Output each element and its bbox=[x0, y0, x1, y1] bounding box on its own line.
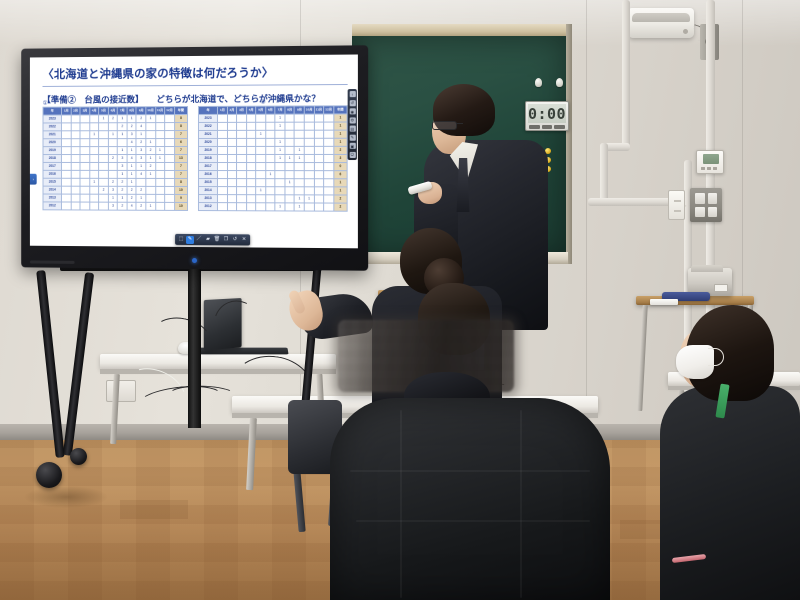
typhoon-table-right[interactable]: 年1月2月3月4月5月6月7月8月9月10月11月12月年間 202311202… bbox=[198, 105, 348, 211]
table-cell-year: 2016 bbox=[43, 170, 62, 178]
table-cell-month bbox=[304, 146, 314, 154]
thermostat[interactable] bbox=[696, 150, 724, 174]
digital-timer[interactable]: 0:00 bbox=[525, 101, 569, 131]
table-cell-month: 1 bbox=[275, 138, 285, 146]
table-cell-month bbox=[155, 123, 164, 131]
table-cell-month bbox=[155, 162, 164, 170]
table-cell-month bbox=[285, 138, 295, 146]
table-cell-month bbox=[256, 114, 266, 122]
table-cell-month bbox=[62, 131, 71, 139]
table-cell-month bbox=[99, 202, 108, 210]
select-icon[interactable]: ⬚ bbox=[177, 235, 185, 243]
glasses-icon bbox=[432, 121, 457, 130]
table-row: 2019113217 bbox=[43, 147, 188, 155]
table-cell-month bbox=[71, 155, 80, 163]
table-row: 20181113 bbox=[198, 154, 347, 162]
table-cell-total: 2 bbox=[334, 203, 348, 211]
table-cell-year: 2012 bbox=[43, 202, 62, 210]
table-cell-month: 2 bbox=[146, 162, 155, 170]
table-cell-year: 2021 bbox=[43, 131, 62, 139]
table-cell-month: 1 bbox=[275, 114, 285, 122]
table-column-header: 8月 bbox=[127, 107, 136, 115]
table-cell-month bbox=[266, 114, 276, 122]
table-body: 2023121121820222248202111131720204216201… bbox=[43, 115, 188, 211]
table-cell-month bbox=[155, 115, 164, 123]
table-cell-month bbox=[62, 202, 71, 210]
table-cell-month bbox=[314, 154, 324, 162]
table-cell-month bbox=[227, 163, 237, 171]
table-cell-month bbox=[227, 195, 237, 203]
light-switch-button[interactable] bbox=[708, 193, 718, 204]
table-cell-month bbox=[165, 162, 175, 170]
table-cell-month bbox=[227, 171, 237, 179]
table-cell-month bbox=[71, 194, 80, 202]
table-row: 201611417 bbox=[43, 170, 188, 178]
thermostat-button[interactable] bbox=[701, 167, 705, 170]
table-cell-month bbox=[218, 122, 228, 130]
wall-outlet[interactable] bbox=[668, 190, 685, 220]
table-cell-month: 3 bbox=[118, 162, 127, 170]
table-cell-month: 2 bbox=[118, 202, 127, 210]
table-cell-month bbox=[99, 139, 108, 147]
table-column-header: 年間 bbox=[334, 106, 348, 114]
table-cell-month bbox=[165, 202, 175, 210]
camera-icon[interactable]: ◉ bbox=[349, 108, 355, 114]
table-cell-month bbox=[256, 122, 266, 130]
table-cell-month: 1 bbox=[118, 147, 127, 155]
table-cell-month bbox=[227, 138, 237, 146]
table-cell-month bbox=[314, 203, 324, 211]
table-cell-month: 1 bbox=[118, 131, 127, 139]
thermostat-button[interactable] bbox=[707, 167, 711, 170]
table-cell-total: 8 bbox=[174, 178, 187, 186]
table-cell-month bbox=[62, 115, 71, 123]
table-cell-month bbox=[295, 122, 305, 130]
table-cell-total: 8 bbox=[174, 123, 187, 131]
expand-panel-tab[interactable]: › bbox=[30, 174, 37, 185]
highlighter-icon[interactable]: ／ bbox=[195, 236, 203, 244]
save-icon[interactable]: ▣ bbox=[349, 143, 355, 149]
table-cell-month bbox=[227, 146, 237, 154]
table-cell-month: 3 bbox=[127, 131, 136, 139]
timer-stop-button[interactable] bbox=[542, 125, 553, 129]
table-cell-month: 4 bbox=[136, 123, 145, 131]
pen-icon[interactable]: ✎ bbox=[349, 134, 355, 140]
table-cell-month bbox=[99, 178, 108, 186]
jacket-seam bbox=[356, 520, 590, 522]
table-cell-month bbox=[324, 114, 334, 122]
table-cell-month: 4 bbox=[127, 202, 136, 210]
table-cell-month: 1 bbox=[155, 147, 164, 155]
table-cell-month: 2 bbox=[146, 147, 155, 155]
timer-start-button[interactable] bbox=[529, 125, 540, 129]
table-column-header: 3月 bbox=[237, 106, 247, 114]
table-cell-month: 2 bbox=[136, 115, 145, 123]
table-cell-month bbox=[304, 138, 314, 146]
table-cell-month bbox=[155, 194, 164, 202]
table-cell-month bbox=[246, 146, 256, 154]
table-cell-month bbox=[246, 187, 256, 195]
table-column-header: 4月 bbox=[90, 107, 99, 115]
table-cell-year: 2012 bbox=[198, 203, 217, 211]
thermostat-buttons[interactable] bbox=[701, 167, 717, 170]
table-cell-month bbox=[62, 178, 71, 186]
table-cell-month bbox=[266, 154, 276, 162]
table-cell-month: 1 bbox=[127, 178, 136, 186]
table-cell-year: 2019 bbox=[198, 146, 217, 154]
stand-caster bbox=[36, 462, 62, 488]
table-cell-month bbox=[237, 179, 247, 187]
table-cell-month bbox=[256, 163, 266, 171]
table-cell-month bbox=[237, 195, 247, 203]
table-cell-month bbox=[285, 146, 295, 154]
table-cell-month bbox=[227, 179, 237, 187]
table-cell-month bbox=[71, 115, 80, 123]
table-cell-month bbox=[324, 187, 334, 195]
grid-icon[interactable]: ▤ bbox=[349, 126, 355, 132]
light-switch-button[interactable] bbox=[695, 193, 705, 204]
table-cell-total: 1 bbox=[334, 122, 348, 130]
timer-reset-button[interactable] bbox=[554, 125, 565, 129]
table-cell-month bbox=[155, 186, 164, 194]
table-cell-month: 2 bbox=[127, 123, 136, 131]
table-cell-month bbox=[304, 122, 314, 130]
table-cell-year: 2023 bbox=[198, 114, 217, 122]
table-cell-month bbox=[285, 203, 295, 211]
table-cell-month: 1 bbox=[90, 131, 99, 139]
table-cell-month bbox=[90, 147, 99, 155]
table-column-header: 年 bbox=[198, 106, 217, 114]
table-cell-month: 1 bbox=[90, 178, 99, 186]
table-left-index: ① bbox=[43, 100, 48, 107]
table-column-header: 1月 bbox=[62, 107, 71, 115]
table-cell-month: 2 bbox=[118, 186, 127, 194]
table-cell-month bbox=[165, 131, 175, 139]
table-cell-month bbox=[80, 202, 89, 210]
copy-icon[interactable]: ❐ bbox=[222, 236, 230, 244]
table-cell-month bbox=[324, 179, 334, 187]
table-cell-month: 1 bbox=[256, 187, 266, 195]
table-right-index: ② bbox=[260, 99, 265, 106]
table-cell-month bbox=[62, 123, 71, 131]
table-cell-month bbox=[90, 170, 99, 178]
table-cell-month bbox=[304, 154, 314, 162]
slide-subtitle: 【準備② 台風の接近数】 どちらが北海道で、どちらが沖縄県かな？ bbox=[43, 92, 348, 106]
table-cell-month: 1 bbox=[285, 179, 295, 187]
table-header-row: 年1月2月3月4月5月6月7月8月9月10月11月12月年間 bbox=[43, 107, 188, 116]
table-column-header: 3月 bbox=[80, 107, 89, 115]
table-cell-month bbox=[80, 194, 89, 202]
table-cell-year: 2022 bbox=[198, 122, 217, 130]
table-row: 201823431113 bbox=[43, 155, 188, 163]
table-cell-month bbox=[99, 162, 108, 170]
light-switch-button[interactable] bbox=[695, 207, 705, 218]
table-cell-month bbox=[71, 139, 80, 147]
table-row: 202011 bbox=[198, 138, 347, 146]
table-cell-year: 2015 bbox=[43, 178, 62, 186]
close-icon[interactable]: ✕ bbox=[240, 236, 248, 244]
table-cell-total: 9 bbox=[174, 194, 187, 202]
table-cell-total: 7 bbox=[174, 147, 187, 155]
table-cell-month bbox=[237, 138, 247, 146]
table-cell-month bbox=[80, 162, 89, 170]
pen-icon[interactable]: ✎ bbox=[186, 235, 194, 243]
table-cell-total: 13 bbox=[174, 155, 187, 163]
table-cell-month bbox=[324, 138, 334, 146]
table-cell-total: 10 bbox=[174, 186, 187, 194]
undo-icon[interactable]: ↺ bbox=[349, 100, 355, 106]
table-cell-month bbox=[324, 122, 334, 130]
table-cell-total: 7 bbox=[174, 170, 187, 178]
table-cell-month bbox=[314, 195, 324, 203]
table-cell-month bbox=[218, 146, 228, 154]
table-cell-month: 1 bbox=[136, 194, 145, 202]
table-cell-month bbox=[80, 170, 89, 178]
table-cell-month bbox=[266, 163, 276, 171]
wall-display[interactable]: 〈北海道と沖縄県の家の特徴は何だろうか〉 【準備② 台風の接近数】 どちらが北海… bbox=[21, 45, 368, 270]
table-cell-month: 2 bbox=[108, 178, 117, 186]
table-cell-month bbox=[99, 147, 108, 155]
pointer-icon[interactable]: ↑ bbox=[349, 91, 355, 97]
table-cell-month: 1 bbox=[285, 154, 295, 162]
table-cell-month: 3 bbox=[118, 155, 127, 163]
table-cell-month bbox=[266, 203, 276, 211]
table-cell-month bbox=[62, 162, 71, 170]
display-screen[interactable]: 〈北海道と沖縄県の家の特徴は何だろうか〉 【準備② 台風の接近数】 どちらが北海… bbox=[30, 54, 358, 248]
table-cell-month bbox=[275, 171, 285, 179]
table-cell-month bbox=[285, 187, 295, 195]
table-cell-month: 1 bbox=[127, 170, 136, 178]
table-cell-total: 2 bbox=[334, 146, 348, 154]
table-cell-month bbox=[314, 187, 324, 195]
table-cell-month bbox=[266, 146, 276, 154]
table-cell-month bbox=[256, 154, 266, 162]
table-cell-month bbox=[295, 114, 305, 122]
table-cell-month bbox=[275, 179, 285, 187]
table-cell-month bbox=[165, 115, 175, 123]
stand-caster bbox=[70, 448, 87, 465]
table-cell-month bbox=[304, 114, 314, 122]
table-column-header: 5月 bbox=[99, 107, 108, 115]
table-cell-year: 2020 bbox=[198, 138, 217, 146]
table-cell-month: 1 bbox=[108, 131, 117, 139]
table-cell-month bbox=[324, 171, 334, 179]
timer-buttons[interactable] bbox=[526, 123, 568, 130]
table-cell-month: 3 bbox=[108, 186, 117, 194]
table-cell-month: 2 bbox=[127, 186, 136, 194]
table-cell-month bbox=[146, 186, 155, 194]
table-cell-month bbox=[314, 146, 324, 154]
table-cell-month bbox=[237, 130, 247, 138]
table-cell-month: 1 bbox=[108, 194, 117, 202]
table-cell-month: 1 bbox=[146, 202, 155, 210]
table-cell-month bbox=[295, 171, 305, 179]
table-body: 2023112022112021112020112019112201811132… bbox=[198, 114, 347, 211]
table-cell-month bbox=[218, 138, 228, 146]
table-cell-month bbox=[304, 163, 314, 171]
typhoon-table-right-wrap: ② 年1月2月3月4月5月6月7月8月9月10月11月12月年間 2023112… bbox=[198, 105, 348, 211]
slide-subtitle-bracket: 【準備② 台風の接近数】 bbox=[43, 93, 144, 105]
table-cell-month: 1 bbox=[118, 194, 127, 202]
table-cell-month bbox=[246, 122, 256, 130]
table-cell-month bbox=[246, 195, 256, 203]
table-cell-month bbox=[266, 195, 276, 203]
table-row: 201616 bbox=[198, 171, 347, 179]
table-cell-month bbox=[285, 163, 295, 171]
table-cell-month bbox=[146, 131, 155, 139]
table-cell-month bbox=[285, 195, 295, 203]
classroom-scene: 0:00 bbox=[0, 0, 800, 600]
table-cell-year: 2014 bbox=[198, 187, 217, 195]
table-cell-month bbox=[266, 187, 276, 195]
table-cell-month bbox=[314, 122, 324, 130]
table-cell-year: 2019 bbox=[43, 147, 62, 155]
settings-icon[interactable]: ⚙ bbox=[349, 117, 355, 123]
table-cell-month bbox=[90, 123, 99, 131]
table-cell-month bbox=[295, 130, 305, 138]
stand-shadow bbox=[24, 486, 108, 508]
table-cell-month bbox=[304, 179, 314, 187]
table-cell-month bbox=[256, 138, 266, 146]
table-cell-month bbox=[99, 123, 108, 131]
table-cell-month: 1 bbox=[304, 195, 314, 203]
table-column-header: 12月 bbox=[324, 106, 334, 114]
light-switch-panel[interactable] bbox=[690, 188, 722, 222]
table-cell-month bbox=[108, 170, 117, 178]
table-cell-total: 7 bbox=[174, 131, 187, 139]
speaker-knob-icon[interactable] bbox=[683, 29, 688, 34]
typhoon-table-left-wrap: ① 年1月2月3月4月5月6月7月8月9月10月11月12月年間 2023121… bbox=[43, 106, 188, 211]
table-cell-month: 1 bbox=[146, 115, 155, 123]
thermostat-button[interactable] bbox=[713, 167, 717, 170]
table-column-header: 2月 bbox=[227, 106, 237, 114]
table-cell-month bbox=[62, 194, 71, 202]
table-cell-month bbox=[237, 114, 247, 122]
table-cell-month: 1 bbox=[275, 146, 285, 154]
table-cell-month bbox=[227, 114, 237, 122]
table-cell-month bbox=[62, 170, 71, 178]
table-cell-month: 1 bbox=[118, 115, 127, 123]
typhoon-table-left[interactable]: 年1月2月3月4月5月6月7月8月9月10月11月12月年間 202312112… bbox=[43, 106, 188, 211]
table-cell-month bbox=[246, 171, 256, 179]
delete-icon[interactable]: 🗑 bbox=[213, 236, 221, 244]
display-side-toolbar[interactable]: ↑↺◉⚙▤✎▣⏻ bbox=[348, 89, 357, 160]
table-cell-month bbox=[324, 203, 334, 211]
table-cell-year: 2017 bbox=[198, 163, 217, 171]
table-cell-month: 2 bbox=[118, 123, 127, 131]
timer-display: 0:00 bbox=[528, 104, 566, 123]
table-cell-month bbox=[155, 178, 164, 186]
table-cell-total: 8 bbox=[174, 115, 187, 123]
table-cell-month bbox=[324, 195, 334, 203]
table-head: 年1月2月3月4月5月6月7月8月9月10月11月12月年間 bbox=[43, 107, 188, 116]
table-cell-month bbox=[324, 154, 334, 162]
table-cell-month bbox=[246, 179, 256, 187]
table-cell-month bbox=[218, 187, 228, 195]
table-cell-month bbox=[146, 178, 155, 186]
table-cell-month bbox=[155, 202, 164, 210]
table-cell-year: 2022 bbox=[43, 123, 62, 131]
table-column-header: 10月 bbox=[304, 106, 314, 114]
table-cell-month bbox=[80, 155, 89, 163]
table-cell-month bbox=[90, 186, 99, 194]
printer-lid bbox=[691, 265, 723, 272]
table-cell-month bbox=[256, 171, 266, 179]
jacket-seam bbox=[400, 410, 402, 598]
table-cell-month bbox=[118, 139, 127, 147]
table-cell-month: 2 bbox=[108, 115, 117, 123]
table-column-header: 12月 bbox=[165, 107, 175, 115]
table-cell-year: 2013 bbox=[43, 194, 62, 202]
table-cell-month bbox=[165, 194, 175, 202]
table-row: 202111 bbox=[198, 130, 347, 138]
table-cell-month: 1 bbox=[155, 155, 164, 163]
table-cell-month bbox=[71, 170, 80, 178]
table-cell-month bbox=[165, 178, 175, 186]
printer-label bbox=[714, 284, 728, 292]
power-icon[interactable]: ⏻ bbox=[349, 151, 355, 157]
table-header-row: 年1月2月3月4月5月6月7月8月9月10月11月12月年間 bbox=[198, 106, 347, 115]
table-head: 年1月2月3月4月5月6月7月8月9月10月11月12月年間 bbox=[198, 106, 347, 115]
table-cell-month bbox=[71, 131, 80, 139]
table-column-header: 1月 bbox=[218, 106, 228, 114]
table-cell-month bbox=[218, 171, 228, 179]
table-cell-month bbox=[218, 114, 228, 122]
table-column-header: 6月 bbox=[266, 106, 276, 114]
table-row: 20123242110 bbox=[43, 202, 188, 211]
table-cell-month: 1 bbox=[146, 139, 155, 147]
table-cell-month bbox=[62, 139, 71, 147]
thermostat-display bbox=[703, 154, 719, 164]
board-hook-icon bbox=[535, 78, 542, 87]
table-column-header: 8月 bbox=[285, 106, 295, 114]
table-row: 2012112 bbox=[198, 203, 347, 212]
table-cell-month bbox=[165, 123, 175, 131]
puffer-jacket bbox=[330, 398, 610, 600]
annotation-toolbar[interactable]: ⬚✎／▰🗑❐↺✕ bbox=[175, 234, 250, 246]
table-column-header: 年 bbox=[43, 107, 62, 115]
table-column-header: 7月 bbox=[275, 106, 285, 114]
vertical-conduit bbox=[600, 143, 608, 205]
outlet-slot-icon bbox=[674, 200, 681, 202]
table-cell-month bbox=[256, 195, 266, 203]
table-cell-month bbox=[237, 203, 247, 211]
jacket-seam bbox=[520, 410, 522, 598]
wall-seam bbox=[586, 0, 587, 452]
table-cell-month bbox=[155, 139, 164, 147]
table-column-header: 9月 bbox=[136, 107, 145, 115]
table-cell-month bbox=[71, 186, 80, 194]
woman-body bbox=[660, 386, 800, 600]
table-cell-month bbox=[227, 187, 237, 195]
eraser-icon[interactable]: ▰ bbox=[204, 236, 212, 244]
table-cell-month: 1 bbox=[275, 122, 285, 130]
table-cell-month bbox=[218, 195, 228, 203]
table-cell-month bbox=[285, 171, 295, 179]
table-cell-month bbox=[80, 147, 89, 155]
table-cell-month bbox=[295, 179, 305, 187]
table-cell-month bbox=[314, 130, 324, 138]
table-cell-year: 2021 bbox=[198, 130, 217, 138]
table-cell-month bbox=[314, 171, 324, 179]
table-cell-month bbox=[80, 131, 89, 139]
table-cell-total: 1 bbox=[334, 130, 348, 138]
table-cell-month bbox=[246, 130, 256, 138]
table-cell-month bbox=[266, 179, 276, 187]
undo-icon[interactable]: ↺ bbox=[231, 236, 239, 244]
table-cell-month bbox=[146, 123, 155, 131]
light-switch-button[interactable] bbox=[708, 207, 718, 218]
